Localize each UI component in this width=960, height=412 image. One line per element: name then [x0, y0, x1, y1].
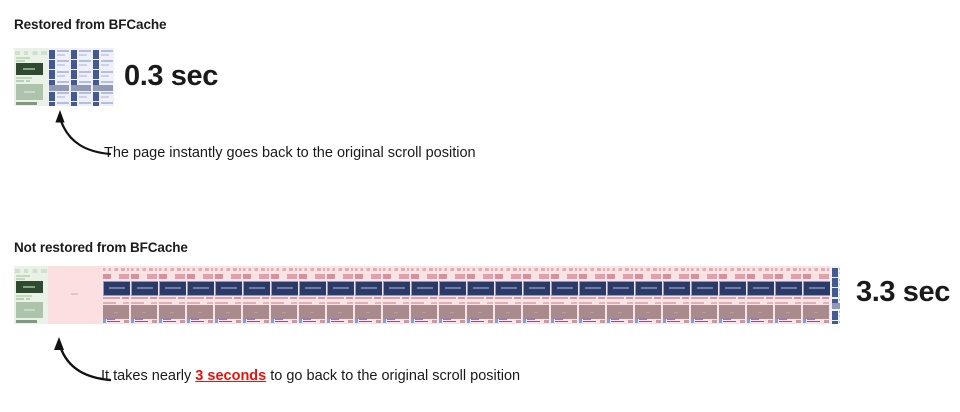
page-text-line — [486, 297, 492, 299]
page-text-line — [570, 297, 576, 299]
page-text-line — [691, 297, 708, 299]
page-text-line — [103, 297, 120, 299]
page-text-line — [179, 302, 185, 304]
page-navbar — [103, 274, 129, 279]
filmstrip-frame-reloading — [718, 266, 746, 324]
page-topbar — [579, 268, 605, 271]
list-item — [93, 60, 112, 69]
page-chip — [544, 320, 549, 322]
filmstrip-frame-reloading — [802, 266, 830, 324]
page-text-line — [443, 321, 456, 323]
page-text-line — [150, 297, 156, 299]
page-text-line — [159, 297, 176, 299]
page-text-line — [207, 302, 213, 304]
page-text-line — [779, 321, 792, 323]
page-text-line — [551, 302, 563, 304]
caption-highlight: 3 seconds — [195, 368, 266, 384]
page-text-line — [639, 318, 647, 320]
filmstrip-frame-reloading — [578, 266, 606, 324]
filmstrip-frame-restored — [92, 48, 114, 106]
list-item — [93, 70, 112, 79]
page-chip — [712, 320, 717, 322]
avatar — [271, 319, 274, 323]
list-column — [93, 50, 112, 105]
page-chip — [292, 320, 297, 322]
page-navbar — [243, 274, 269, 279]
filmstrip-frame-reloading — [466, 266, 494, 324]
avatar — [635, 319, 638, 323]
page-text-line — [359, 318, 367, 320]
page-chip — [684, 320, 689, 322]
list-column — [832, 268, 840, 323]
filmstrip-frame-reloading — [298, 266, 326, 324]
list-item — [832, 268, 840, 277]
page-text-line — [439, 297, 456, 299]
page-text-line — [607, 297, 624, 299]
page-hero-image — [663, 281, 690, 297]
page-text-line — [215, 302, 227, 304]
page-topbar — [635, 268, 661, 271]
page-topbar — [439, 268, 465, 271]
page-text-line — [523, 302, 535, 304]
list-item — [832, 278, 840, 287]
avatar — [327, 319, 330, 323]
filmstrip-frame-reloading — [214, 266, 242, 324]
page-text-line — [271, 302, 283, 304]
page-card — [16, 84, 43, 100]
page-topbar — [747, 268, 773, 271]
page-text-line — [667, 318, 675, 320]
page-text-line — [682, 297, 688, 299]
page-topbar — [691, 268, 717, 271]
list-thumbnail — [832, 268, 838, 277]
page-text-line — [719, 302, 731, 304]
avatar — [215, 319, 218, 323]
page-text-line — [415, 321, 428, 323]
page-chip — [572, 320, 577, 322]
filmstrip-frame-reloading — [522, 266, 550, 324]
page-topbar — [775, 268, 801, 271]
page-text-line — [458, 297, 464, 299]
page-chip — [824, 320, 829, 322]
list-item — [49, 60, 68, 69]
filmstrip-frame-reloading — [690, 266, 718, 324]
list-item — [71, 60, 90, 69]
list-thumbnail — [71, 70, 77, 79]
page-navbar — [439, 274, 465, 279]
list-thumbnail — [49, 70, 55, 79]
page-navbar — [299, 274, 325, 279]
page-chip — [16, 298, 23, 300]
page-text-line — [263, 302, 269, 304]
page-text-line — [135, 318, 143, 320]
list-thumbnail — [832, 311, 838, 320]
list-thumbnail — [832, 278, 838, 287]
list-text — [839, 268, 840, 276]
page-text-line — [487, 302, 493, 304]
page-text-line — [290, 297, 296, 299]
page-text-line — [439, 302, 451, 304]
page-text-line — [471, 321, 484, 323]
page-text-line — [131, 302, 143, 304]
avatar — [495, 319, 498, 323]
page-topbar — [495, 268, 521, 271]
page-text-line — [598, 297, 604, 299]
page-chip — [656, 320, 661, 322]
page-text-line — [514, 297, 520, 299]
page-card — [16, 302, 43, 318]
filmstrip-frame-reloading — [662, 266, 690, 324]
page-text-line — [807, 321, 820, 323]
list-column — [49, 50, 68, 105]
page-text-line — [374, 297, 380, 299]
page-chip — [236, 320, 241, 322]
avatar — [411, 319, 414, 323]
page-text-line — [16, 60, 25, 62]
page-navbar — [579, 274, 605, 279]
page-text-line — [766, 297, 772, 299]
page-text-line — [751, 321, 764, 323]
page-text-line — [135, 321, 148, 323]
page-hero-image — [383, 281, 410, 297]
page-text-line — [331, 318, 339, 320]
page-chip — [320, 320, 325, 322]
page-text-line — [823, 302, 829, 304]
page-topbar — [271, 268, 297, 271]
page-text-line — [555, 321, 568, 323]
page-chip — [348, 320, 353, 322]
page-topbar — [159, 268, 185, 271]
page-text-line — [16, 77, 32, 79]
page-text-line — [319, 302, 325, 304]
page-topbar — [411, 268, 437, 271]
page-hero-image — [16, 281, 43, 294]
page-text-line — [163, 318, 171, 320]
page-footer-bar — [16, 102, 37, 105]
page-text-line — [495, 297, 512, 299]
page-topbar — [327, 268, 353, 271]
avatar — [243, 319, 246, 323]
page-text-line — [751, 318, 759, 320]
page-text-line — [327, 297, 344, 299]
page-text-line — [291, 302, 297, 304]
page-navbar — [271, 274, 297, 279]
page-hero-image — [131, 281, 158, 297]
page-text-line — [235, 302, 241, 304]
section-heading-not-restored: Not restored from BFCache — [14, 240, 188, 255]
page-text-line — [683, 302, 689, 304]
page-topbar — [607, 268, 633, 271]
page-text-line — [710, 297, 716, 299]
list-thumbnail — [93, 50, 99, 59]
page-text-line — [807, 318, 815, 320]
page-text-line — [667, 321, 680, 323]
list-thumbnail — [71, 50, 77, 59]
page-hero-image — [411, 281, 438, 297]
list-thumbnail — [49, 50, 55, 59]
caption-not-restored: It takes nearly 3 seconds to go back to … — [101, 368, 520, 384]
page-text-line — [803, 297, 820, 299]
page-chip — [180, 320, 185, 322]
page-topbar — [131, 268, 157, 271]
filmstrip-frame-reloading — [186, 266, 214, 324]
filmstrip-not-restored — [14, 266, 840, 324]
page-text-line — [795, 302, 801, 304]
page-navbar — [803, 274, 829, 279]
page-hero-image — [691, 281, 718, 297]
page-text-line — [387, 321, 400, 323]
page-topbar — [551, 268, 577, 271]
page-text-line — [247, 318, 255, 320]
list-banner — [93, 85, 112, 91]
avatar — [747, 319, 750, 323]
page-text-line — [663, 297, 680, 299]
page-topbar — [187, 268, 213, 271]
page-hero-image — [355, 281, 382, 297]
page-text-line — [234, 297, 240, 299]
page-text-line — [359, 321, 372, 323]
list-thumbnail — [93, 92, 99, 101]
page-hero-image — [159, 281, 186, 297]
list-thumbnail — [93, 70, 99, 79]
page-text-line — [691, 302, 703, 304]
page-text-line — [187, 297, 204, 299]
list-banner — [49, 85, 68, 91]
page-text-line — [583, 321, 596, 323]
list-text — [79, 50, 91, 58]
page-text-line — [571, 302, 577, 304]
page-text-line — [695, 321, 708, 323]
filmstrip-frame-reloading — [242, 266, 270, 324]
page-text-line — [411, 297, 428, 299]
page-navbar — [187, 274, 213, 279]
filmstrip-frame-reloading — [270, 266, 298, 324]
page-text-line — [331, 321, 344, 323]
list-text — [839, 321, 840, 324]
caption-restored: The page instantly goes back to the orig… — [104, 145, 476, 161]
page-navbar — [327, 274, 353, 279]
page-text-line — [375, 302, 381, 304]
page-navbar — [635, 274, 661, 279]
page-text-line — [303, 321, 316, 323]
page-topbar — [355, 268, 381, 271]
page-text-line — [459, 302, 465, 304]
page-topbar — [103, 268, 129, 271]
page-text-line — [355, 302, 367, 304]
page-text-line — [515, 302, 521, 304]
page-text-line — [318, 297, 324, 299]
page-navbar — [467, 274, 493, 279]
page-chip — [152, 320, 157, 322]
list-column — [71, 50, 90, 105]
list-text — [839, 279, 840, 287]
list-item — [71, 70, 90, 79]
page-chip — [16, 80, 23, 82]
list-item — [49, 70, 68, 79]
page-text-line — [247, 321, 260, 323]
page-chip — [264, 320, 269, 322]
page-chip — [460, 320, 465, 322]
page-text-line — [747, 302, 759, 304]
filmstrip-frame-reloading — [634, 266, 662, 324]
page-hero-image — [16, 63, 43, 76]
page-hero-image — [103, 281, 130, 297]
page-text-line — [579, 302, 591, 304]
page-text-line — [107, 318, 115, 320]
page-text-line — [163, 321, 176, 323]
page-text-line — [178, 297, 184, 299]
page-text-line — [131, 297, 148, 299]
page-hero-image — [551, 281, 578, 297]
page-text-line — [467, 302, 479, 304]
duration-label-not-restored: 3.3 sec — [856, 276, 950, 309]
page-text-line — [551, 297, 568, 299]
page-text-line — [443, 318, 451, 320]
page-navbar — [523, 274, 549, 279]
filmstrip-frame-original-page — [14, 48, 48, 106]
page-chip — [26, 298, 31, 300]
filmstrip-frame-reloading — [774, 266, 802, 324]
page-navbar — [495, 274, 521, 279]
page-text-line — [16, 295, 32, 297]
page-navbar — [663, 274, 689, 279]
list-text — [101, 60, 113, 68]
page-hero-image — [495, 281, 522, 297]
page-chip — [404, 320, 409, 322]
page-hero-image — [719, 281, 746, 297]
page-topbar — [663, 268, 689, 271]
filmstrip-frame-reloading — [102, 266, 130, 324]
filmstrip-frame-reloading — [438, 266, 466, 324]
page-text-line — [803, 302, 815, 304]
page-hero-image — [327, 281, 354, 297]
page-text-line — [695, 318, 703, 320]
list-thumbnail — [832, 321, 838, 324]
page-text-line — [123, 302, 129, 304]
page-text-line — [543, 302, 549, 304]
list-text — [839, 289, 840, 297]
avatar — [355, 319, 358, 323]
page-topbar — [383, 268, 409, 271]
page-hero-image — [747, 281, 774, 297]
page-text-line — [663, 302, 675, 304]
page-topbar — [803, 268, 829, 271]
page-text-line — [738, 297, 744, 299]
avatar — [187, 319, 190, 323]
page-text-line — [639, 321, 652, 323]
page-hero-image — [243, 281, 270, 297]
page-hero-image — [607, 281, 634, 297]
filmstrip-frame-reloading — [354, 266, 382, 324]
page-text-line — [355, 297, 372, 299]
avatar — [775, 319, 778, 323]
page-chip — [796, 320, 801, 322]
list-thumbnail — [49, 92, 55, 101]
list-text — [101, 71, 113, 79]
page-topbar — [719, 268, 745, 271]
page-chip — [376, 320, 381, 322]
avatar — [439, 319, 442, 323]
page-text-line — [611, 318, 619, 320]
list-thumbnail — [71, 92, 77, 101]
page-navbar — [747, 274, 773, 279]
page-text-line — [523, 297, 540, 299]
page-text-line — [794, 297, 800, 299]
page-text-line — [107, 321, 120, 323]
page-text-line — [16, 57, 30, 59]
list-item — [832, 311, 840, 320]
page-text-line — [779, 318, 787, 320]
page-text-line — [275, 318, 283, 320]
page-chip — [768, 320, 773, 322]
page-text-line — [627, 302, 633, 304]
avatar — [551, 319, 554, 323]
page-text-line — [215, 297, 232, 299]
page-navbar — [383, 274, 409, 279]
filmstrip-frame-original-page — [14, 266, 48, 324]
caption-text: The page instantly goes back to the orig… — [104, 145, 476, 161]
list-item — [93, 50, 112, 59]
avatar — [383, 319, 386, 323]
page-topbar — [243, 268, 269, 271]
duration-label-restored: 0.3 sec — [124, 60, 218, 93]
page-text-line — [187, 302, 199, 304]
page-topbar — [299, 268, 325, 271]
list-text — [57, 71, 69, 79]
page-text-line — [387, 318, 395, 320]
avatar — [131, 319, 134, 323]
page-chip — [628, 320, 633, 322]
page-hero-image — [635, 281, 662, 297]
avatar — [467, 319, 470, 323]
page-text-line — [219, 318, 227, 320]
page-text-line — [654, 297, 660, 299]
filmstrip-frame-reloading — [550, 266, 578, 324]
page-hero-image — [467, 281, 494, 297]
page-chip — [600, 320, 605, 322]
page-text-line — [191, 318, 199, 320]
page-text-line — [383, 297, 400, 299]
page-text-line — [499, 321, 512, 323]
page-chip — [124, 320, 129, 322]
page-text-line — [599, 302, 605, 304]
page-text-line — [16, 275, 30, 277]
caption-text-prefix: It takes nearly — [101, 368, 195, 384]
avatar — [523, 319, 526, 323]
filmstrip-frame-reloading — [158, 266, 186, 324]
page-topbar — [15, 269, 46, 273]
page-hero-image — [271, 281, 298, 297]
page-text-line — [775, 302, 787, 304]
page-text-line — [635, 302, 647, 304]
page-text-line — [471, 318, 479, 320]
page-navbar — [411, 274, 437, 279]
page-text-line — [299, 302, 311, 304]
page-text-line — [467, 297, 484, 299]
page-text-line — [579, 297, 596, 299]
section-heading-restored: Restored from BFCache — [14, 17, 166, 32]
page-hero-image — [439, 281, 466, 297]
page-text-line — [327, 302, 339, 304]
page-text-line — [775, 297, 792, 299]
list-text — [79, 71, 91, 79]
page-text-line — [655, 302, 661, 304]
page-text-line — [299, 297, 316, 299]
page-chip — [488, 320, 493, 322]
page-text-line — [626, 297, 632, 299]
page-navbar — [355, 274, 381, 279]
page-text-line — [527, 321, 540, 323]
